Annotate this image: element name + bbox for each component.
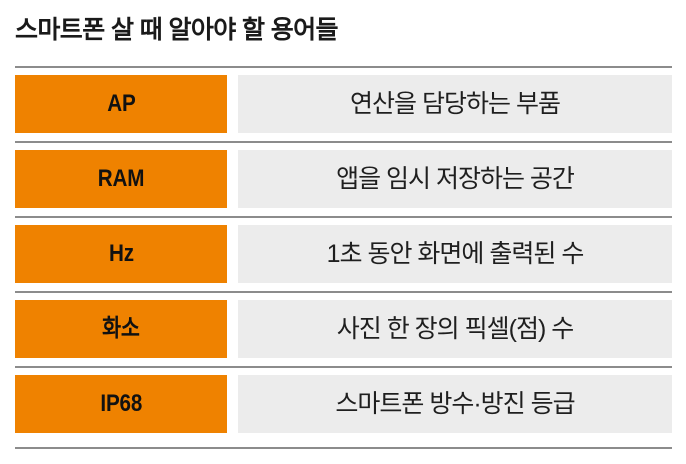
term-description-label: 1초 동안 화면에 출력된 수 (327, 242, 584, 267)
term-description-cell: 사진 한 장의 픽셀(점) 수 (238, 300, 672, 358)
term-key-label: 화소 (102, 317, 140, 341)
term-description-label: 앱을 임시 저장하는 공간 (336, 167, 574, 192)
row-cells: Hz 1초 동안 화면에 출력된 수 (0, 225, 686, 283)
row-cells: 화소 사진 한 장의 픽셀(점) 수 (0, 300, 686, 358)
row-divider (15, 141, 672, 143)
table-row: IP68 스마트폰 방수·방진 등급 (0, 366, 686, 441)
table-row: RAM 앱을 임시 저장하는 공간 (0, 141, 686, 216)
term-description-cell: 1초 동안 화면에 출력된 수 (238, 225, 672, 283)
term-key-cell: AP (15, 75, 227, 133)
row-divider (15, 366, 672, 368)
table-row: Hz 1초 동안 화면에 출력된 수 (0, 216, 686, 291)
page-title: 스마트폰 살 때 알아야 할 용어들 (15, 8, 655, 48)
term-key-label: AP (107, 92, 135, 116)
table-row: AP 연산을 담당하는 부품 (0, 66, 686, 141)
term-description-label: 연산을 담당하는 부품 (350, 92, 560, 117)
term-key-cell: IP68 (15, 375, 227, 433)
row-divider (15, 216, 672, 218)
table-row: 화소 사진 한 장의 픽셀(점) 수 (0, 291, 686, 366)
row-cells: AP 연산을 담당하는 부품 (0, 75, 686, 133)
row-divider (15, 291, 672, 293)
term-key-cell: Hz (15, 225, 227, 283)
row-cells: IP68 스마트폰 방수·방진 등급 (0, 375, 686, 433)
terms-table: AP 연산을 담당하는 부품 RAM 앱을 임시 저장하는 공간 (0, 66, 686, 441)
row-divider (15, 66, 672, 68)
infographic-root: 스마트폰 살 때 알아야 할 용어들 AP 연산을 담당하는 부품 RAM (0, 0, 686, 464)
term-description-cell: 앱을 임시 저장하는 공간 (238, 150, 672, 208)
term-description-label: 스마트폰 방수·방진 등급 (335, 392, 574, 417)
term-description-cell: 스마트폰 방수·방진 등급 (238, 375, 672, 433)
term-key-label: IP68 (100, 392, 142, 416)
term-key-label: Hz (109, 242, 134, 266)
term-key-cell: RAM (15, 150, 227, 208)
row-cells: RAM 앱을 임시 저장하는 공간 (0, 150, 686, 208)
term-description-cell: 연산을 담당하는 부품 (238, 75, 672, 133)
table-bottom-divider (15, 447, 672, 449)
term-key-cell: 화소 (15, 300, 227, 358)
term-description-label: 사진 한 장의 픽셀(점) 수 (337, 317, 573, 342)
term-key-label: RAM (98, 167, 144, 191)
